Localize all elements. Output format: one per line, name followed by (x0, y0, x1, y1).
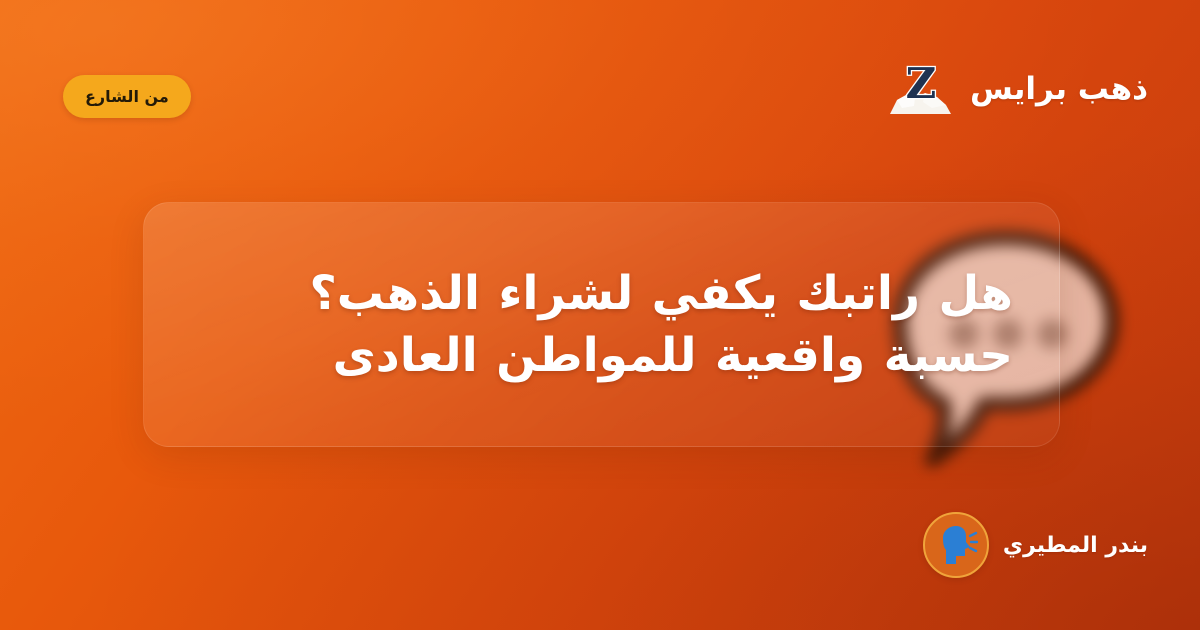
avatar (923, 512, 989, 578)
author-name: بندر المطيري (1003, 533, 1148, 558)
svg-text:Z: Z (906, 59, 937, 108)
brand-name: ذهب برايس (970, 71, 1148, 107)
speaking-head-icon (934, 523, 978, 567)
headline-card: هل راتبك يكفي لشراء الذهب؟ حسبة واقعية ل… (143, 202, 1060, 447)
author-block[interactable]: بندر المطيري (923, 512, 1148, 578)
gold-bar-logo-icon: Z (884, 58, 956, 120)
headline-line-2: حسبة واقعية للمواطن العادى (190, 325, 1013, 386)
social-card-canvas: من الشارع ذهب برايس Z (0, 0, 1200, 630)
page-title: هل راتبك يكفي لشراء الذهب؟ حسبة واقعية ل… (190, 263, 1013, 385)
brand-logo[interactable]: ذهب برايس Z (884, 58, 1148, 120)
category-badge[interactable]: من الشارع (63, 75, 191, 118)
headline-line-1: هل راتبك يكفي لشراء الذهب؟ (190, 263, 1013, 324)
